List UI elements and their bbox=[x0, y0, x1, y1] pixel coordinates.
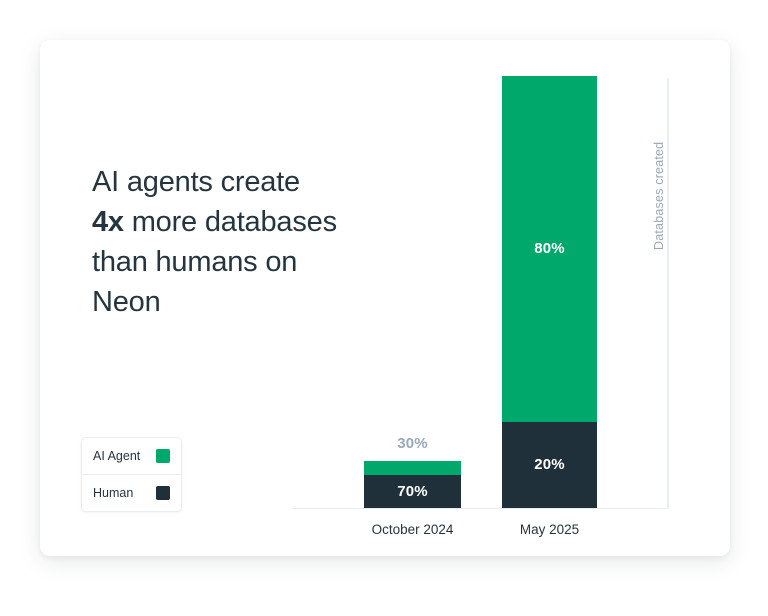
x-axis-tick-may-2025: May 2025 bbox=[482, 522, 617, 537]
bar-segment-ai-agent[interactable]: 80% bbox=[502, 76, 597, 422]
bar-segment-value-human: 20% bbox=[534, 456, 565, 473]
bar-segment-human[interactable]: 70% bbox=[364, 475, 461, 508]
legend-item-human[interactable]: Human bbox=[82, 474, 181, 511]
bar-group-may-2025[interactable]: 80% 20% May 2025 bbox=[502, 76, 597, 508]
legend-item-ai-agent[interactable]: AI Agent bbox=[82, 438, 181, 474]
legend-swatch-ai-agent-icon bbox=[156, 449, 170, 463]
x-axis-line bbox=[292, 508, 668, 509]
bar-segment-ai-agent[interactable]: 30% bbox=[364, 461, 461, 475]
legend-label-human: Human bbox=[93, 486, 133, 500]
bar-segment-value-ai-agent: 30% bbox=[364, 435, 461, 452]
chart-card: AI agents create 4x more databases than … bbox=[40, 40, 730, 556]
chart-legend: AI Agent Human bbox=[81, 437, 182, 512]
legend-label-ai-agent: AI Agent bbox=[93, 449, 140, 463]
y-axis-label: Databases created bbox=[652, 50, 666, 250]
stacked-bar[interactable]: 30% 70% bbox=[364, 461, 461, 508]
x-axis-tick-october-2024: October 2024 bbox=[344, 522, 481, 537]
bar-segment-value-ai-agent: 80% bbox=[534, 240, 565, 257]
bar-group-october-2024[interactable]: 30% 70% October 2024 bbox=[364, 461, 461, 508]
bar-segment-human[interactable]: 20% bbox=[502, 422, 597, 508]
y-axis-line bbox=[667, 78, 669, 508]
bar-segment-value-human: 70% bbox=[397, 483, 428, 500]
stacked-bar[interactable]: 80% 20% bbox=[502, 76, 597, 508]
legend-swatch-human-icon bbox=[156, 486, 170, 500]
